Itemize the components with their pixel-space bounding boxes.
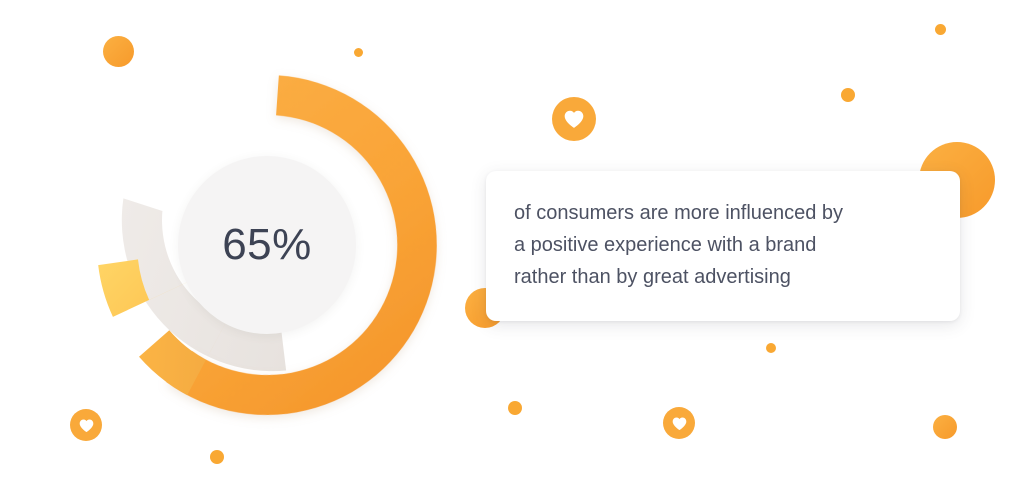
quote-line-3: rather than by great advertising: [514, 261, 932, 293]
quote-line-1: of consumers are more influenced by: [514, 197, 932, 229]
heart-icon: [561, 106, 587, 132]
quote-card: of consumers are more influenced by a po…: [486, 171, 960, 321]
dot-bottom-left-small: [210, 450, 224, 464]
donut-center-value: 65%: [222, 223, 312, 267]
dot-bottom-center-small: [508, 401, 522, 415]
heart-badge-bottom-center: [663, 407, 695, 439]
heart-icon: [670, 414, 689, 433]
dot-top-mid-small: [354, 48, 363, 57]
dot-top-right-small: [935, 24, 946, 35]
dot-mid-right-small: [766, 343, 776, 353]
quote-line-2: a positive experience with a brand: [514, 229, 932, 261]
heart-badge-top: [552, 97, 596, 141]
heart-badge-bottom-left: [70, 409, 102, 441]
heart-icon: [77, 416, 96, 435]
dot-bottom-right-medium: [933, 415, 957, 439]
dot-upper-right-small: [841, 88, 855, 102]
infographic-canvas: 65% of consumers are more influenced by …: [0, 0, 1018, 493]
donut-chart: 65%: [84, 62, 450, 428]
donut-center-hub: 65%: [178, 156, 356, 334]
